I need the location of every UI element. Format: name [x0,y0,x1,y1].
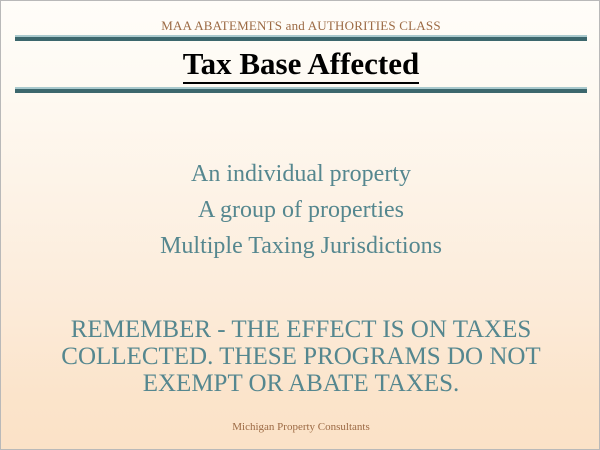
bullet-item: A group of properties [1,192,600,228]
slide-kicker-heading: MAA ABATEMENTS and AUTHORITIES CLASS [1,18,600,33]
bullet-item: Multiple Taxing Jurisdictions [1,228,600,264]
presentation-slide: MAA ABATEMENTS and AUTHORITIES CLASS Tax… [0,0,600,450]
slide-footer-attribution: Michigan Property Consultants [1,421,600,434]
remember-line: COLLECTED. THESE PROGRAMS DO NOT [1,343,600,370]
bullet-item: An individual property [1,156,600,192]
rule-body [15,37,587,41]
remember-line: REMEMBER - THE EFFECT IS ON TAXES [1,316,600,343]
remember-paragraph: REMEMBER - THE EFFECT IS ON TAXES COLLEC… [1,316,600,397]
remember-line: EXEMPT OR ABATE TAXES. [1,370,600,397]
rule-body [15,89,587,93]
slide-title: Tax Base Affected [1,45,600,83]
header-rule-top [15,35,587,41]
slide-title-text: Tax Base Affected [183,46,420,84]
bullet-list: An individual property A group of proper… [1,156,600,264]
header-rule-bottom [15,87,587,93]
